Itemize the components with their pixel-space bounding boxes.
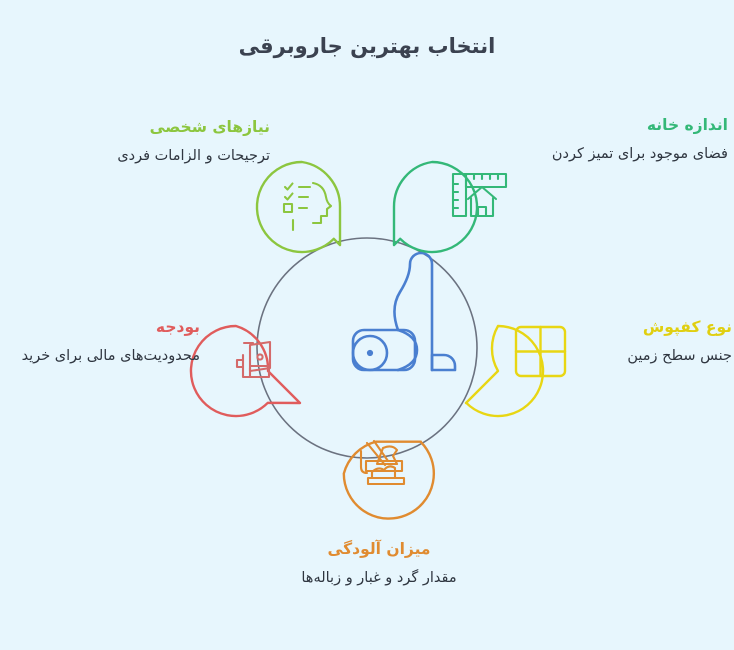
pin-shape-house-size: [394, 162, 477, 252]
ruler-house-icon: [453, 174, 506, 216]
label-block-personal-needs: نیازهای شخصی ترجیحات و الزامات فردی: [88, 118, 270, 167]
label-heading-house-size: اندازه خانه: [520, 116, 728, 135]
label-description-house-size: فضای موجود برای تمیز کردن: [520, 144, 728, 165]
label-description-personal-needs: ترجیحات و الزامات فردی: [88, 146, 270, 167]
label-description-floor-type: جنس سطح زمین: [596, 346, 732, 367]
label-block-budget: بودجه محدودیت‌های مالی برای خرید: [8, 318, 200, 367]
pin-pollution-level[interactable]: [330, 415, 452, 537]
head-checklist-icon: [284, 183, 331, 230]
broom-dustpan-icon: [361, 441, 404, 484]
pin-shape-floor-type: [466, 326, 543, 416]
pin-budget[interactable]: [191, 326, 300, 416]
pin-shape-budget: [191, 326, 300, 416]
label-description-budget: محدودیت‌های مالی برای خرید: [8, 346, 200, 367]
label-description-pollution-level: مقدار گرد و غبار و زباله‌ها: [272, 568, 486, 589]
pin-shape-personal-needs: [257, 162, 340, 252]
label-heading-pollution-level: میزان آلودگی: [272, 540, 486, 559]
label-block-floor-type: نوع کفپوش جنس سطح زمین: [596, 318, 732, 367]
label-block-pollution-level: میزان آلودگی مقدار گرد و غبار و زباله‌ها: [272, 540, 486, 589]
vacuum-cleaner-icon: [353, 253, 455, 370]
label-heading-floor-type: نوع کفپوش: [596, 318, 732, 337]
pin-personal-needs[interactable]: [257, 162, 340, 252]
label-heading-personal-needs: نیازهای شخصی: [88, 118, 270, 137]
connector-ring: [257, 238, 477, 458]
pin-shape-pollution-level: [330, 415, 452, 537]
pin-house-size[interactable]: [394, 162, 506, 252]
hand-money-icon: [237, 342, 270, 377]
label-block-house-size: اندازه خانه فضای موجود برای تمیز کردن: [520, 116, 728, 165]
label-heading-budget: بودجه: [8, 318, 200, 337]
pin-floor-type[interactable]: [466, 326, 565, 416]
